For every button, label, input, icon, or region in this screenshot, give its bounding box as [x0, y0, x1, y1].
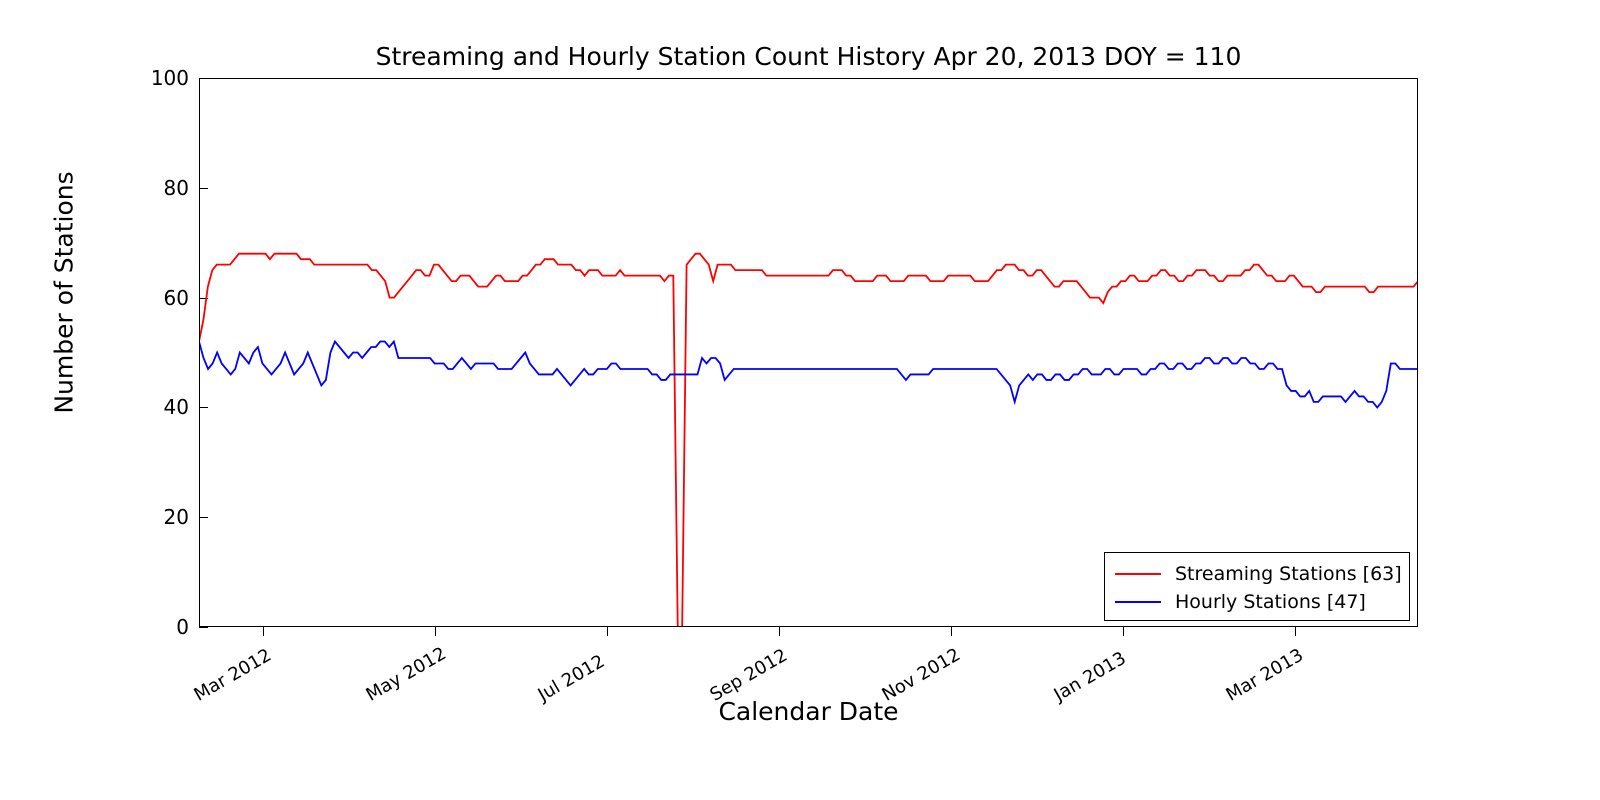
- x-tick-mark: [607, 627, 608, 636]
- legend-color-swatch-streaming: [1115, 573, 1161, 575]
- legend-label-streaming: Streaming Stations [63]: [1175, 563, 1402, 585]
- figure-canvas: Streaming and Hourly Station Count Histo…: [0, 0, 1600, 800]
- x-tick-mark: [951, 627, 952, 636]
- legend-item-streaming: Streaming Stations [63]: [1115, 560, 1399, 588]
- legend-color-swatch-hourly: [1115, 601, 1161, 603]
- x-tick-mark: [1123, 627, 1124, 636]
- y-tick-label: 60: [119, 286, 189, 310]
- legend-label-hourly: Hourly Stations [47]: [1175, 591, 1366, 613]
- y-tick-label: 100: [119, 66, 189, 90]
- legend-box: Streaming Stations [63] Hourly Stations …: [1104, 552, 1410, 621]
- y-tick-label: 80: [119, 176, 189, 200]
- x-tick-mark: [263, 627, 264, 636]
- y-tick-label: 40: [119, 395, 189, 419]
- legend-item-hourly: Hourly Stations [47]: [1115, 588, 1399, 616]
- y-tick-label: 20: [119, 505, 189, 529]
- chart-title: Streaming and Hourly Station Count Histo…: [199, 42, 1418, 71]
- y-axis-label: Number of Stations: [50, 83, 79, 503]
- y-axis-tick-labels: 020406080100: [115, 78, 189, 627]
- y-tick-label: 0: [119, 615, 189, 639]
- x-tick-mark: [1295, 627, 1296, 636]
- x-tick-mark: [779, 627, 780, 636]
- axes-frame: [199, 78, 1418, 627]
- y-tick-mark: [199, 627, 208, 628]
- x-tick-mark: [435, 627, 436, 636]
